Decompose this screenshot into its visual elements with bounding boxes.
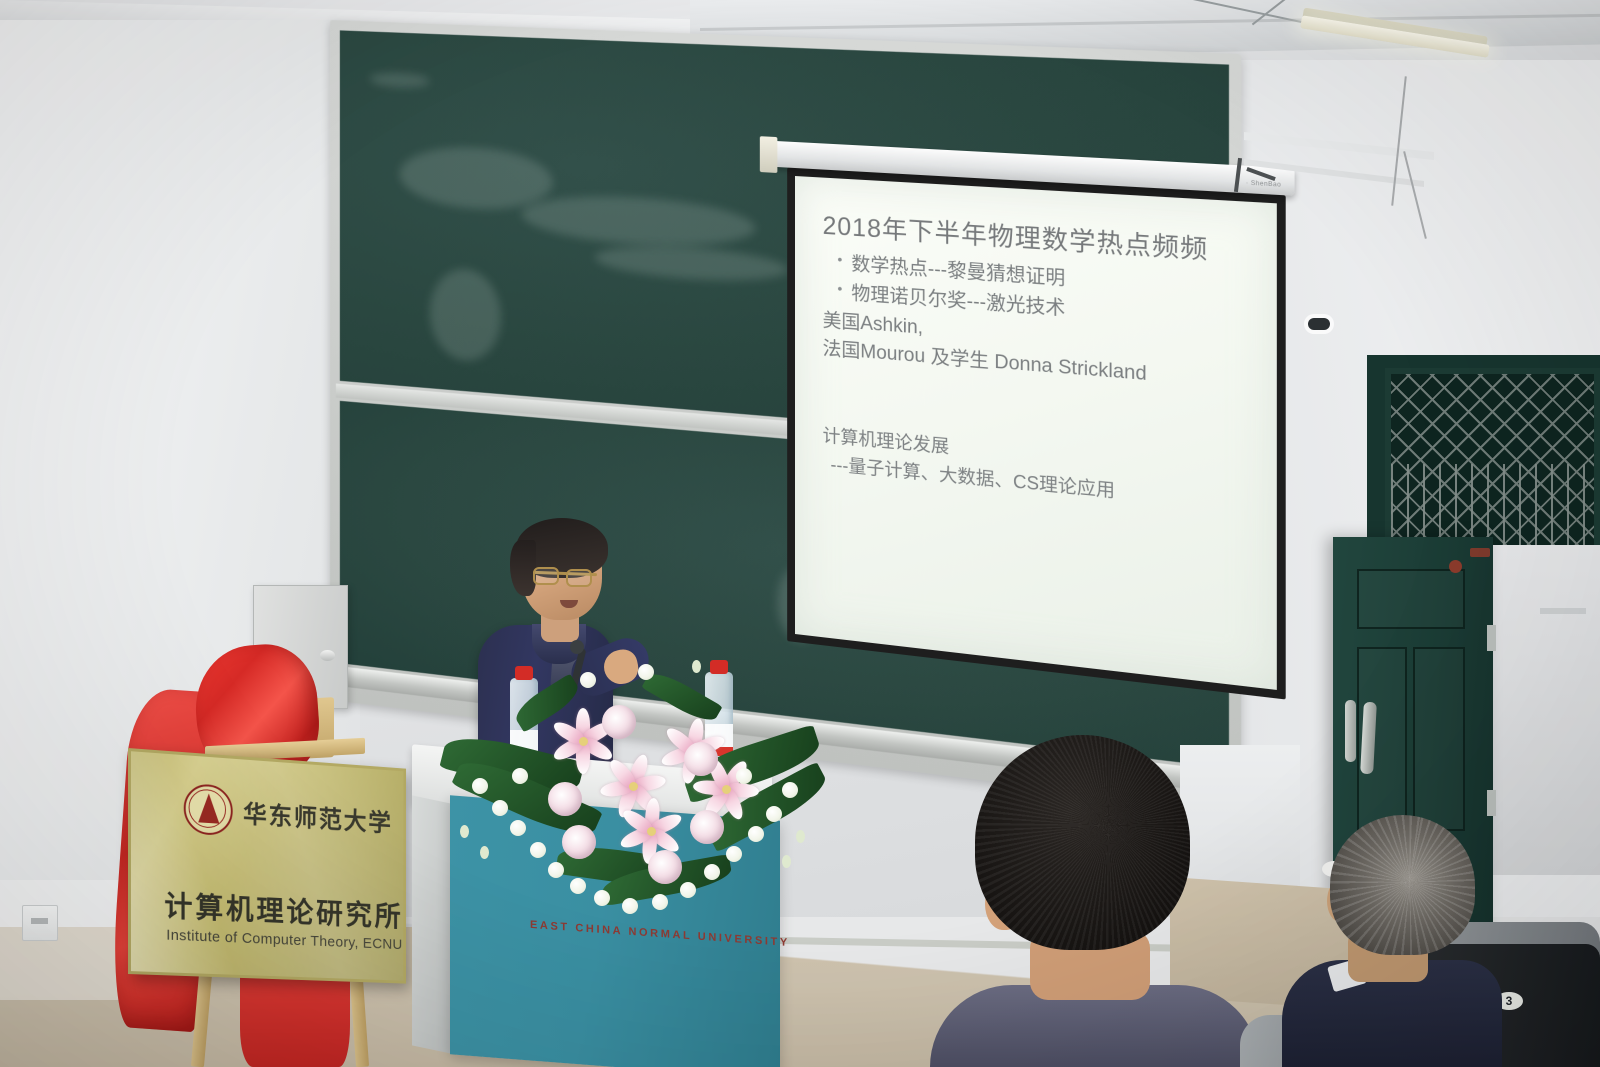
orchid-flower xyxy=(726,846,742,862)
box-knob[interactable] xyxy=(320,650,335,661)
roller-end-cap xyxy=(760,136,778,173)
flower-bud xyxy=(796,830,805,843)
orchid-flower xyxy=(530,842,546,858)
rose-flower xyxy=(602,705,636,739)
orchid-flower xyxy=(704,864,720,880)
orchid-flower xyxy=(736,768,752,784)
door-panel xyxy=(1357,569,1465,629)
orchid-flower xyxy=(748,826,764,842)
orchid-flower xyxy=(680,882,696,898)
inner-right-wall xyxy=(1493,545,1600,875)
door-handle[interactable] xyxy=(1345,700,1356,762)
lecture-room-photo: 2018年下半年物理数学热点频频 数学热点---黎曼猜想证明 物理诺贝尔奖---… xyxy=(0,0,1600,1067)
presentation-slide: 2018年下半年物理数学热点频频 数学热点---黎曼猜想证明 物理诺贝尔奖---… xyxy=(795,176,1277,690)
orchid-flower xyxy=(594,890,610,906)
wall-hook xyxy=(1540,608,1586,614)
orchid-flower xyxy=(512,768,528,784)
orchid-flower xyxy=(638,664,654,680)
lattice-transom-window xyxy=(1385,368,1600,558)
door-hinge xyxy=(1487,625,1496,651)
orchid-flower xyxy=(510,820,526,836)
audience-member-hair xyxy=(1330,815,1475,955)
orchid-flower xyxy=(782,782,798,798)
audience-member-hair xyxy=(975,735,1190,950)
door-label xyxy=(1470,548,1490,557)
orchid-flower xyxy=(580,672,596,688)
door-panel xyxy=(1413,647,1465,831)
orchid-flower xyxy=(766,806,782,822)
rose-flower xyxy=(684,742,718,776)
eyeglass-lens xyxy=(566,569,592,587)
institute-plaque: 华东师范大学 计算机理论研究所 Institute of Computer Th… xyxy=(128,748,406,984)
light-switch[interactable] xyxy=(22,905,58,941)
switch-rocker-icon xyxy=(31,918,48,924)
ecnu-pagoda-logo-icon xyxy=(184,783,233,836)
rose-flower xyxy=(562,825,596,859)
orchid-flower xyxy=(548,862,564,878)
door-hinge xyxy=(1487,790,1496,816)
roller-brand-label: · ShenBao xyxy=(1246,180,1281,188)
rose-flower xyxy=(690,810,724,844)
rose-flower xyxy=(548,782,582,816)
orchid-flower xyxy=(570,878,586,894)
eyeglass-lens xyxy=(533,567,559,585)
orchid-flower xyxy=(652,894,668,910)
flower-bud xyxy=(460,825,469,838)
orchid-flower xyxy=(492,800,508,816)
speaker-hair xyxy=(510,540,536,596)
flower-bud xyxy=(480,846,489,859)
rose-flower xyxy=(648,850,682,884)
plaque-university-name: 华东师范大学 xyxy=(243,794,392,838)
flower-bud xyxy=(692,660,701,673)
wall-sensor-icon xyxy=(1308,318,1330,330)
orchid-flower xyxy=(622,898,638,914)
logo-ring xyxy=(189,788,226,829)
door-sticker-icon xyxy=(1449,560,1462,573)
screen-surface: 2018年下半年物理数学热点频频 数学热点---黎曼猜想证明 物理诺贝尔奖---… xyxy=(795,176,1277,690)
orchid-flower xyxy=(472,778,488,794)
flower-bud xyxy=(782,855,791,868)
flower-arrangement xyxy=(452,650,822,950)
projection-screen: 2018年下半年物理数学热点频频 数学热点---黎曼猜想证明 物理诺贝尔奖---… xyxy=(795,150,1286,708)
